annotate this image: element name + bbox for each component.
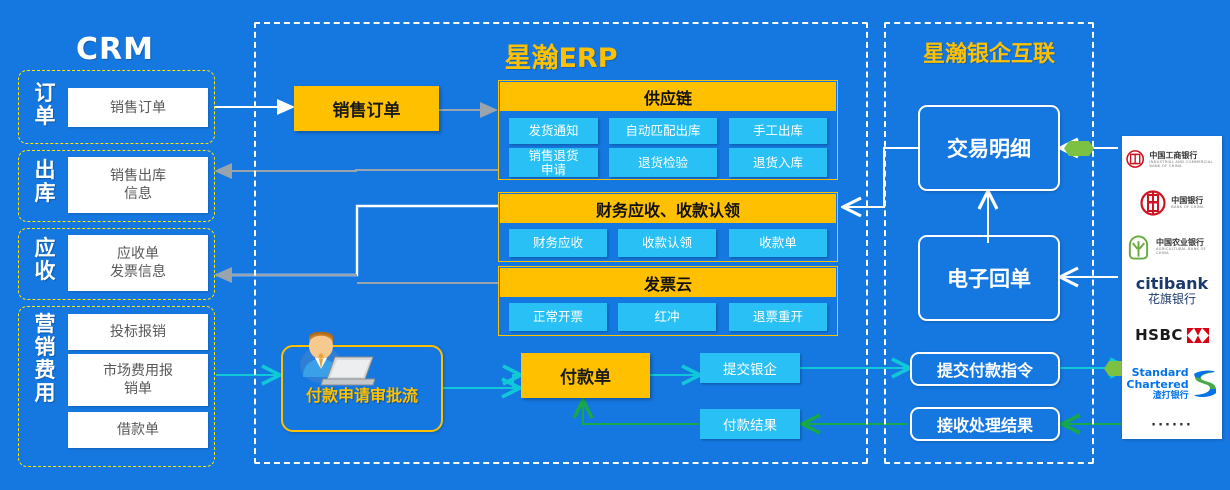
sc-line1: Standard — [1126, 367, 1188, 379]
abc-icon — [1126, 234, 1151, 260]
hsbc-name: HSBC — [1135, 326, 1183, 344]
crm-box-receivable-invoice[interactable]: 应收单 发票信息 — [68, 235, 208, 291]
crm-box-line1: 应收单 — [117, 245, 159, 263]
crm-group-label-orders: 订单 — [28, 82, 62, 128]
person-laptop-icon — [289, 327, 375, 389]
crm-box-line2: 发票信息 — [110, 263, 166, 281]
sc-cn: 渣打银行 — [1126, 391, 1188, 402]
bank-logo-standard-chartered: Standard Chartered 渣打银行 — [1126, 364, 1217, 404]
hsbc-hexagon-icon — [1187, 328, 1209, 343]
chip-line1: 销售退货 — [528, 149, 578, 163]
erp-box-sales-order[interactable]: 销售订单 — [294, 86, 439, 131]
erp-chip-shipping-notice[interactable]: 发货通知 — [509, 118, 598, 144]
crm-title: CRM — [10, 32, 220, 67]
icbc-sub: INDUSTRIAL AND COMMERCIAL BANK OF CHINA — [1149, 160, 1218, 168]
erp-module-head-supply-chain: 供应链 — [500, 82, 836, 111]
bank-logo-citibank: citibank 花旗银行 — [1136, 275, 1208, 306]
citi-cn: 花旗银行 — [1136, 292, 1208, 306]
crm-box-loan-form[interactable]: 借款单 — [68, 412, 208, 448]
erp-chip-red-offset[interactable]: 红冲 — [618, 303, 716, 331]
abc-sub: AGRICULTURAL BANK OF CHINA — [1156, 247, 1218, 255]
erp-chip-manual-outbound[interactable]: 手工出库 — [729, 118, 827, 144]
bank-logo-hsbc: HSBC — [1135, 320, 1209, 350]
diagram-canvas: CRM 订单 销售订单 出库 销售出库 信息 应收 应收单 发票信息 营销费用 … — [0, 0, 1230, 490]
crm-box-sales-order[interactable]: 销售订单 — [68, 88, 208, 127]
bank-logo-strip: 中国工商银行 INDUSTRIAL AND COMMERCIAL BANK OF… — [1122, 136, 1222, 439]
chip-line2: 申请 — [541, 163, 566, 177]
sc-mark-icon — [1192, 368, 1218, 400]
bank-panel-title: 星瀚银企互联 — [884, 36, 1094, 68]
bank-box-submit-payment-instruction[interactable]: 提交付款指令 — [910, 352, 1060, 386]
erp-chip-receipt-form[interactable]: 收款单 — [729, 229, 827, 257]
crm-box-marketing-expense-form[interactable]: 市场费用报 销单 — [68, 354, 208, 406]
crm-box-bid-reimbursement[interactable]: 投标报销 — [68, 314, 208, 350]
boc-sub: BANK OF CHINA — [1171, 205, 1203, 209]
crm-box-line2: 销单 — [124, 380, 152, 398]
crm-group-label-receivable: 应收 — [28, 237, 62, 283]
bank-logo-abc: 中国农业银行 AGRICULTURAL BANK OF CHINA — [1126, 232, 1218, 262]
boc-icon — [1140, 190, 1166, 216]
icbc-name: 中国工商银行 — [1149, 151, 1218, 160]
erp-box-payment-order[interactable]: 付款单 — [521, 353, 650, 398]
boc-name: 中国银行 — [1171, 196, 1203, 205]
bank-logo-icbc: 中国工商银行 INDUSTRIAL AND COMMERCIAL BANK OF… — [1126, 144, 1218, 174]
erp-chip-reissue-invoice[interactable]: 退票重开 — [729, 303, 827, 331]
erp-module-head-invoice-cloud: 发票云 — [500, 268, 836, 297]
erp-chip-sales-return-request[interactable]: 销售退货 申请 — [509, 148, 598, 177]
erp-box-payment-result[interactable]: 付款结果 — [700, 409, 800, 439]
citi-name: citibank — [1136, 275, 1208, 292]
erp-panel-title: 星瀚ERP — [254, 36, 868, 75]
crm-group-label-outbound: 出库 — [28, 159, 62, 205]
bank-more-ellipsis: ······ — [1151, 418, 1193, 433]
erp-chip-finance-receivable[interactable]: 财务应收 — [509, 229, 607, 257]
erp-box-submit-bank[interactable]: 提交银企 — [700, 353, 800, 383]
erp-chip-return-instock[interactable]: 退货入库 — [729, 148, 827, 177]
icbc-icon — [1126, 146, 1144, 172]
erp-chip-normal-invoice[interactable]: 正常开票 — [509, 303, 607, 331]
bank-box-e-receipt[interactable]: 电子回单 — [918, 235, 1060, 321]
crm-box-sales-outbound-info[interactable]: 销售出库 信息 — [68, 157, 208, 213]
crm-box-line1: 销售出库 — [110, 167, 166, 185]
erp-module-head-finance-receivable: 财务应收、收款认领 — [500, 194, 836, 223]
crm-box-line1: 市场费用报 — [103, 362, 173, 380]
abc-name: 中国农业银行 — [1156, 238, 1218, 247]
erp-chip-auto-match-outbound[interactable]: 自动匹配出库 — [609, 118, 717, 144]
bank-logo-boc: 中国银行 BANK OF CHINA — [1140, 188, 1203, 218]
crm-box-line2: 信息 — [124, 185, 152, 203]
bank-box-transaction-detail[interactable]: 交易明细 — [918, 105, 1060, 191]
crm-group-label-marketing-expense: 营销费用 — [30, 313, 60, 405]
sc-line2: Chartered — [1126, 379, 1188, 391]
green-hexagon-connector-top — [1064, 140, 1094, 157]
erp-chip-payment-claim[interactable]: 收款认领 — [618, 229, 716, 257]
bank-box-receive-process-result[interactable]: 接收处理结果 — [910, 407, 1060, 441]
erp-chip-return-inspection[interactable]: 退货检验 — [609, 148, 717, 177]
